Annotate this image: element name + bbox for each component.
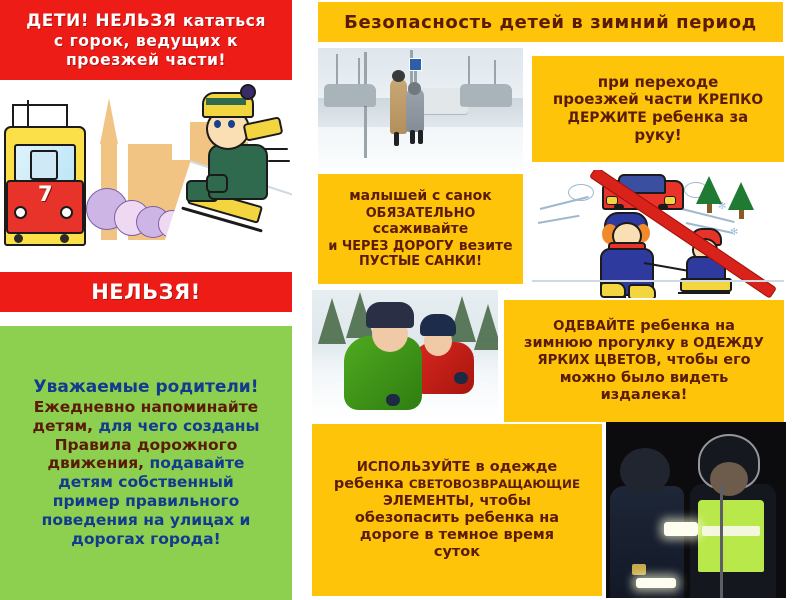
tip-reflectors-line3a: ЭЛЕМЕНТЫ, [383,494,474,509]
night-pole [720,484,723,598]
tram-headlight-right [60,206,73,219]
tip-hold-hand-line2b: КРЕПКО [698,92,763,108]
vest-reflective-strip [702,526,760,536]
parents-line-5a: движения, [48,454,145,472]
tip-empty-sled-line3: и ЧЕРЕЗ ДОРОГУ везите [328,238,512,255]
tip-bright-line2: зимнюю прогулку в ОДЕЖДУ [524,335,764,352]
tip-hold-hand-box: при переходе проезжей части КРЕПКО ДЕРЖИ… [532,56,784,162]
tip-empty-sled-line2b: ссаживайте [373,221,469,237]
tip-reflectors-line3: ЭЛЕМЕНТЫ, чтобы [383,493,531,510]
nelzya-banner: НЕЛЬЗЯ! [0,272,292,312]
tip-bright-line3a: ЯРКИХ ЦВЕТОВ, [537,353,661,368]
left-header-line1: ДЕТИ! НЕЛЬЗЯ кататься [26,11,266,31]
left-header-line1-strong: ДЕТИ! НЕЛЬЗЯ [26,11,176,31]
photo-winter-street-crossing [318,48,523,168]
child-eye-right [228,120,235,128]
poster-title: Безопасность детей в зимний период [344,12,757,33]
car-wheel-left [614,204,624,210]
child-leg-left [410,130,415,144]
tip-bright-line3b: чтобы его [667,352,751,368]
parents-line-6: детям собственный [58,473,233,492]
tip-hold-hand-line3: ДЕРЖИТЕ ребенка за [568,109,749,127]
child-hat-pompom [240,84,256,100]
parents-line-9: дорогах города! [71,530,220,549]
tip-empty-sled-box: малышей с санок ОБЯЗАТЕЛЬНО ссаживайте и… [318,174,523,284]
fir-tree-background-1 [318,298,346,344]
tip-reflectors-line3b: чтобы [479,493,531,509]
photo-night-reflective-vest [606,422,786,598]
nelzya-banner-label: НЕЛЬЗЯ! [91,280,201,304]
reflective-vest [698,500,764,572]
night-adult-badge [632,564,646,575]
parents-line-2: Ежедневно напоминайте [34,398,258,417]
tip-hold-hand-line3a: ДЕРЖИТЕ [568,110,647,126]
reflector-glow-bottom [636,578,676,588]
speed-line-2 [268,160,290,162]
tram-sledding-illustration: 7 [0,82,292,268]
tip-empty-sled-line2: ОБЯЗАТЕЛЬНО ссаживайте [323,205,518,238]
child-green-hat-icon [366,302,414,328]
parents-line-3b: для чего созданы [98,417,259,435]
tip-reflectors-line1: ИСПОЛЬЗУЙТЕ в одежде [357,459,558,476]
tip-reflectors-line5: дороге в темное время [360,527,554,544]
fir-tree-right-trunk [739,210,744,219]
tip-bright-line1b: ребенка на [640,318,735,334]
child-red-mitten [454,372,468,384]
winter-child-safety-poster: ДЕТИ! НЕЛЬЗЯ кататься с горок, ведущих к… [0,0,793,600]
road-line-1 [540,196,589,210]
tip-reflectors-line2: ребенка СВЕТОВОЗВРАЩАЮЩИЕ [334,476,580,493]
child-hat-band [206,98,246,105]
tip-empty-sled-line3a: и ЧЕРЕЗ ДОРОГУ [328,239,454,254]
night-adult-head [620,448,670,494]
reflector-glow [664,522,698,536]
spire-icon [100,98,118,144]
tip-bright-line2b: в ОДЕЖДУ [680,336,764,351]
tip-bright-line2a: зимнюю прогулку [524,335,675,351]
tip-empty-sled-line1: малышей с санок [349,188,492,205]
tip-reflectors-line6: суток [434,544,480,561]
child-green-mitten [386,394,400,406]
tip-empty-sled-line3b: везите [459,238,513,254]
adult-pedestrian [390,78,407,134]
parents-line-5: движения, подавайте [48,454,245,473]
parents-line-1: Уважаемые родители! [34,377,259,398]
child-hood-icon [408,82,421,95]
left-header-banner: ДЕТИ! НЕЛЬЗЯ кататься с горок, ведущих к… [0,0,292,80]
child-leg-right [418,130,423,144]
photo-kids-in-snow [312,290,498,418]
tip-empty-sled-line4: ПУСТЫЕ САНКИ! [359,254,482,269]
left-header-line1-soft: кататься [183,11,266,30]
tip-bright-line4: можно было видеть [560,370,729,387]
tram-route-number: 7 [38,182,53,206]
tip-reflectors-line2a: ребенка [334,476,404,492]
parents-line-5b: подавайте [149,454,244,472]
fir-tree-right-icon [728,182,754,210]
fir-tree-left-icon [696,176,722,204]
tram-wheel-right [60,234,69,243]
left-header-line2: с горок, ведущих к [54,31,238,50]
tip-empty-sled-line2a: ОБЯЗАТЕЛЬНО [366,206,476,221]
tip-bright-clothes-box: ОДЕВАЙТЕ ребенка на зимнюю прогулку в ОД… [504,300,784,422]
road-line-2 [538,215,580,224]
no-sled-crossing-illustration: ✻ ✻ ✻ [532,170,784,298]
tram-headlight-left [14,206,27,219]
illustration-ground-line [532,280,784,298]
parents-line-8: поведения на улицах и [42,511,251,530]
child-red-hat-icon [420,314,456,336]
fir-tree-background-4 [474,304,498,350]
child-eye-left [214,120,221,128]
tip-hold-hand-line3b: ребенка за [652,108,748,126]
poster-title-banner: Безопасность детей в зимний период [318,2,783,42]
child-mitten [206,174,228,193]
tip-reflectors-line1b: в одежде [476,459,558,475]
tip-reflectors-line4: обезопасить ребенка на [355,510,559,527]
tip-hold-hand-line4: руку! [634,127,681,145]
tip-hold-hand-line2a: проезжей части [553,90,693,108]
parked-car-right [460,84,512,106]
left-header-line3: проезжей части! [66,50,226,69]
tip-bright-line5: издалека! [601,387,688,404]
tip-reflectors-line1a: ИСПОЛЬЗУЙТЕ [357,460,471,475]
tip-hold-hand-line1: при переходе [598,74,719,92]
parents-line-3: детям, для чего созданы [33,417,260,436]
adult-hat-icon [392,70,405,82]
parked-car-left [324,84,376,106]
pedestrian-crossing-sign-icon [409,58,422,71]
tip-reflectors-line2b: СВЕТОВОЗВРАЩАЮЩИЕ [409,477,580,491]
parents-message-box: Уважаемые родители! Ежедневно напоминайт… [0,326,292,600]
tram-wheel-left [14,234,23,243]
parents-line-7: пример правильного [53,492,240,511]
night-child-face [710,462,748,496]
tip-reflectors-box: ИСПОЛЬЗУЙТЕ в одежде ребенка СВЕТОВОЗВРА… [312,424,602,596]
adult-leg [394,132,399,146]
tip-hold-hand-line2: проезжей части КРЕПКО [553,91,763,109]
parents-line-3a: детям, [33,417,94,435]
tip-bright-line1: ОДЕВАЙТЕ ребенка на [553,318,735,335]
tip-bright-line3: ЯРКИХ ЦВЕТОВ, чтобы его [537,352,750,369]
tram-driver-window [30,150,58,180]
tip-bright-line1a: ОДЕВАЙТЕ [553,319,635,334]
parents-line-4: Правила дорожного [55,436,238,455]
fir-tree-left-trunk [707,204,712,213]
